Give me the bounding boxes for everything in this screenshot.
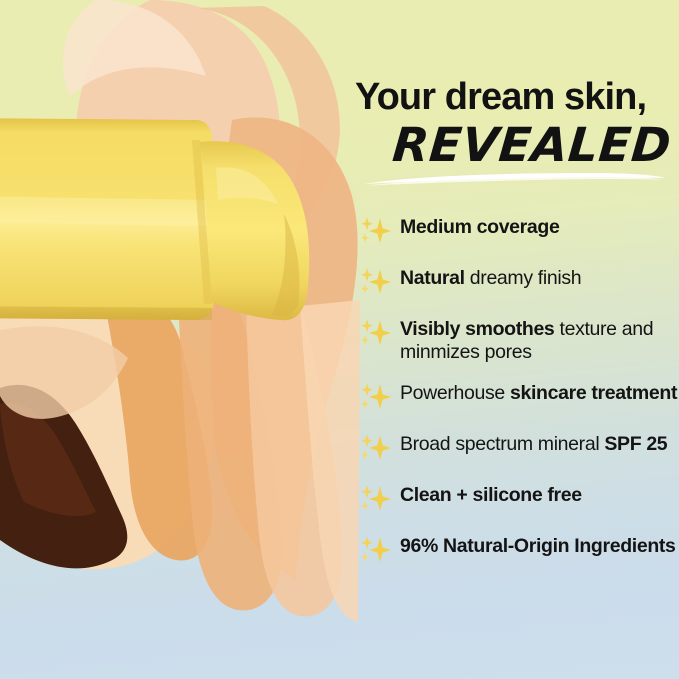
tube-highlight <box>0 196 210 226</box>
list-item: Clean + silicone free <box>358 480 679 516</box>
list-item: Medium coverage <box>358 212 679 248</box>
bullet-1-bold: Medium coverage <box>400 216 559 238</box>
bullet-4-regular: Powerhouse <box>400 382 510 404</box>
list-item: Powerhouse skincare treatment <box>358 378 679 414</box>
sparkle-icon <box>358 265 392 299</box>
sparkle-icon <box>358 482 392 516</box>
product-artwork <box>0 0 360 679</box>
copy-column: Your dream skin, REVEALED Medium coverag… <box>352 0 679 679</box>
sparkle-icon <box>358 316 392 350</box>
headline-line-1: Your dream skin, <box>355 78 679 116</box>
product-marketing-image: Your dream skin, REVEALED Medium coverag… <box>0 0 679 679</box>
list-item-text: Powerhouse skincare treatment <box>400 378 677 405</box>
list-item-text: Broad spectrum mineral SPF 25 <box>400 429 667 456</box>
list-item: Natural dreamy finish <box>358 263 679 299</box>
sparkle-icon <box>358 431 392 465</box>
bullet-5-bold: SPF 25 <box>604 433 667 455</box>
sparkle-icon <box>358 214 392 248</box>
bullet-2-bold: Natural <box>400 267 465 289</box>
headline-block: Your dream skin, REVEALED <box>355 78 679 169</box>
list-item: Visibly smoothes texture and minmizes po… <box>358 314 679 363</box>
sparkle-icon <box>358 380 392 414</box>
tube-edge-shadow <box>0 306 212 320</box>
list-item-text: Clean + silicone free <box>400 480 582 507</box>
list-item-text: Natural dreamy finish <box>400 263 581 290</box>
bullet-6-bold: Clean + silicone free <box>400 484 582 506</box>
list-item: 96% Natural-Origin Ingredients <box>358 531 679 567</box>
bullet-4-bold: skincare treatment <box>510 382 677 404</box>
bullet-5-regular: Broad spectrum mineral <box>400 433 604 455</box>
list-item-text: Medium coverage <box>400 212 559 239</box>
bullet-7-bold: 96% Natural-Origin Ingredients <box>400 535 676 557</box>
brush-swoosh-icon <box>362 172 667 188</box>
list-item-text: 96% Natural-Origin Ingredients <box>400 531 676 558</box>
list-item-text: Visibly smoothes texture and minmizes po… <box>400 314 679 363</box>
bullet-2-regular: dreamy finish <box>465 267 581 289</box>
headline-line-2: REVEALED <box>353 122 679 169</box>
benefit-list: Medium coverage Natural dreamy finish <box>358 212 679 582</box>
sparkle-icon <box>358 533 392 567</box>
list-item: Broad spectrum mineral SPF 25 <box>358 429 679 465</box>
bullet-3-bold: Visibly smoothes <box>400 318 554 340</box>
